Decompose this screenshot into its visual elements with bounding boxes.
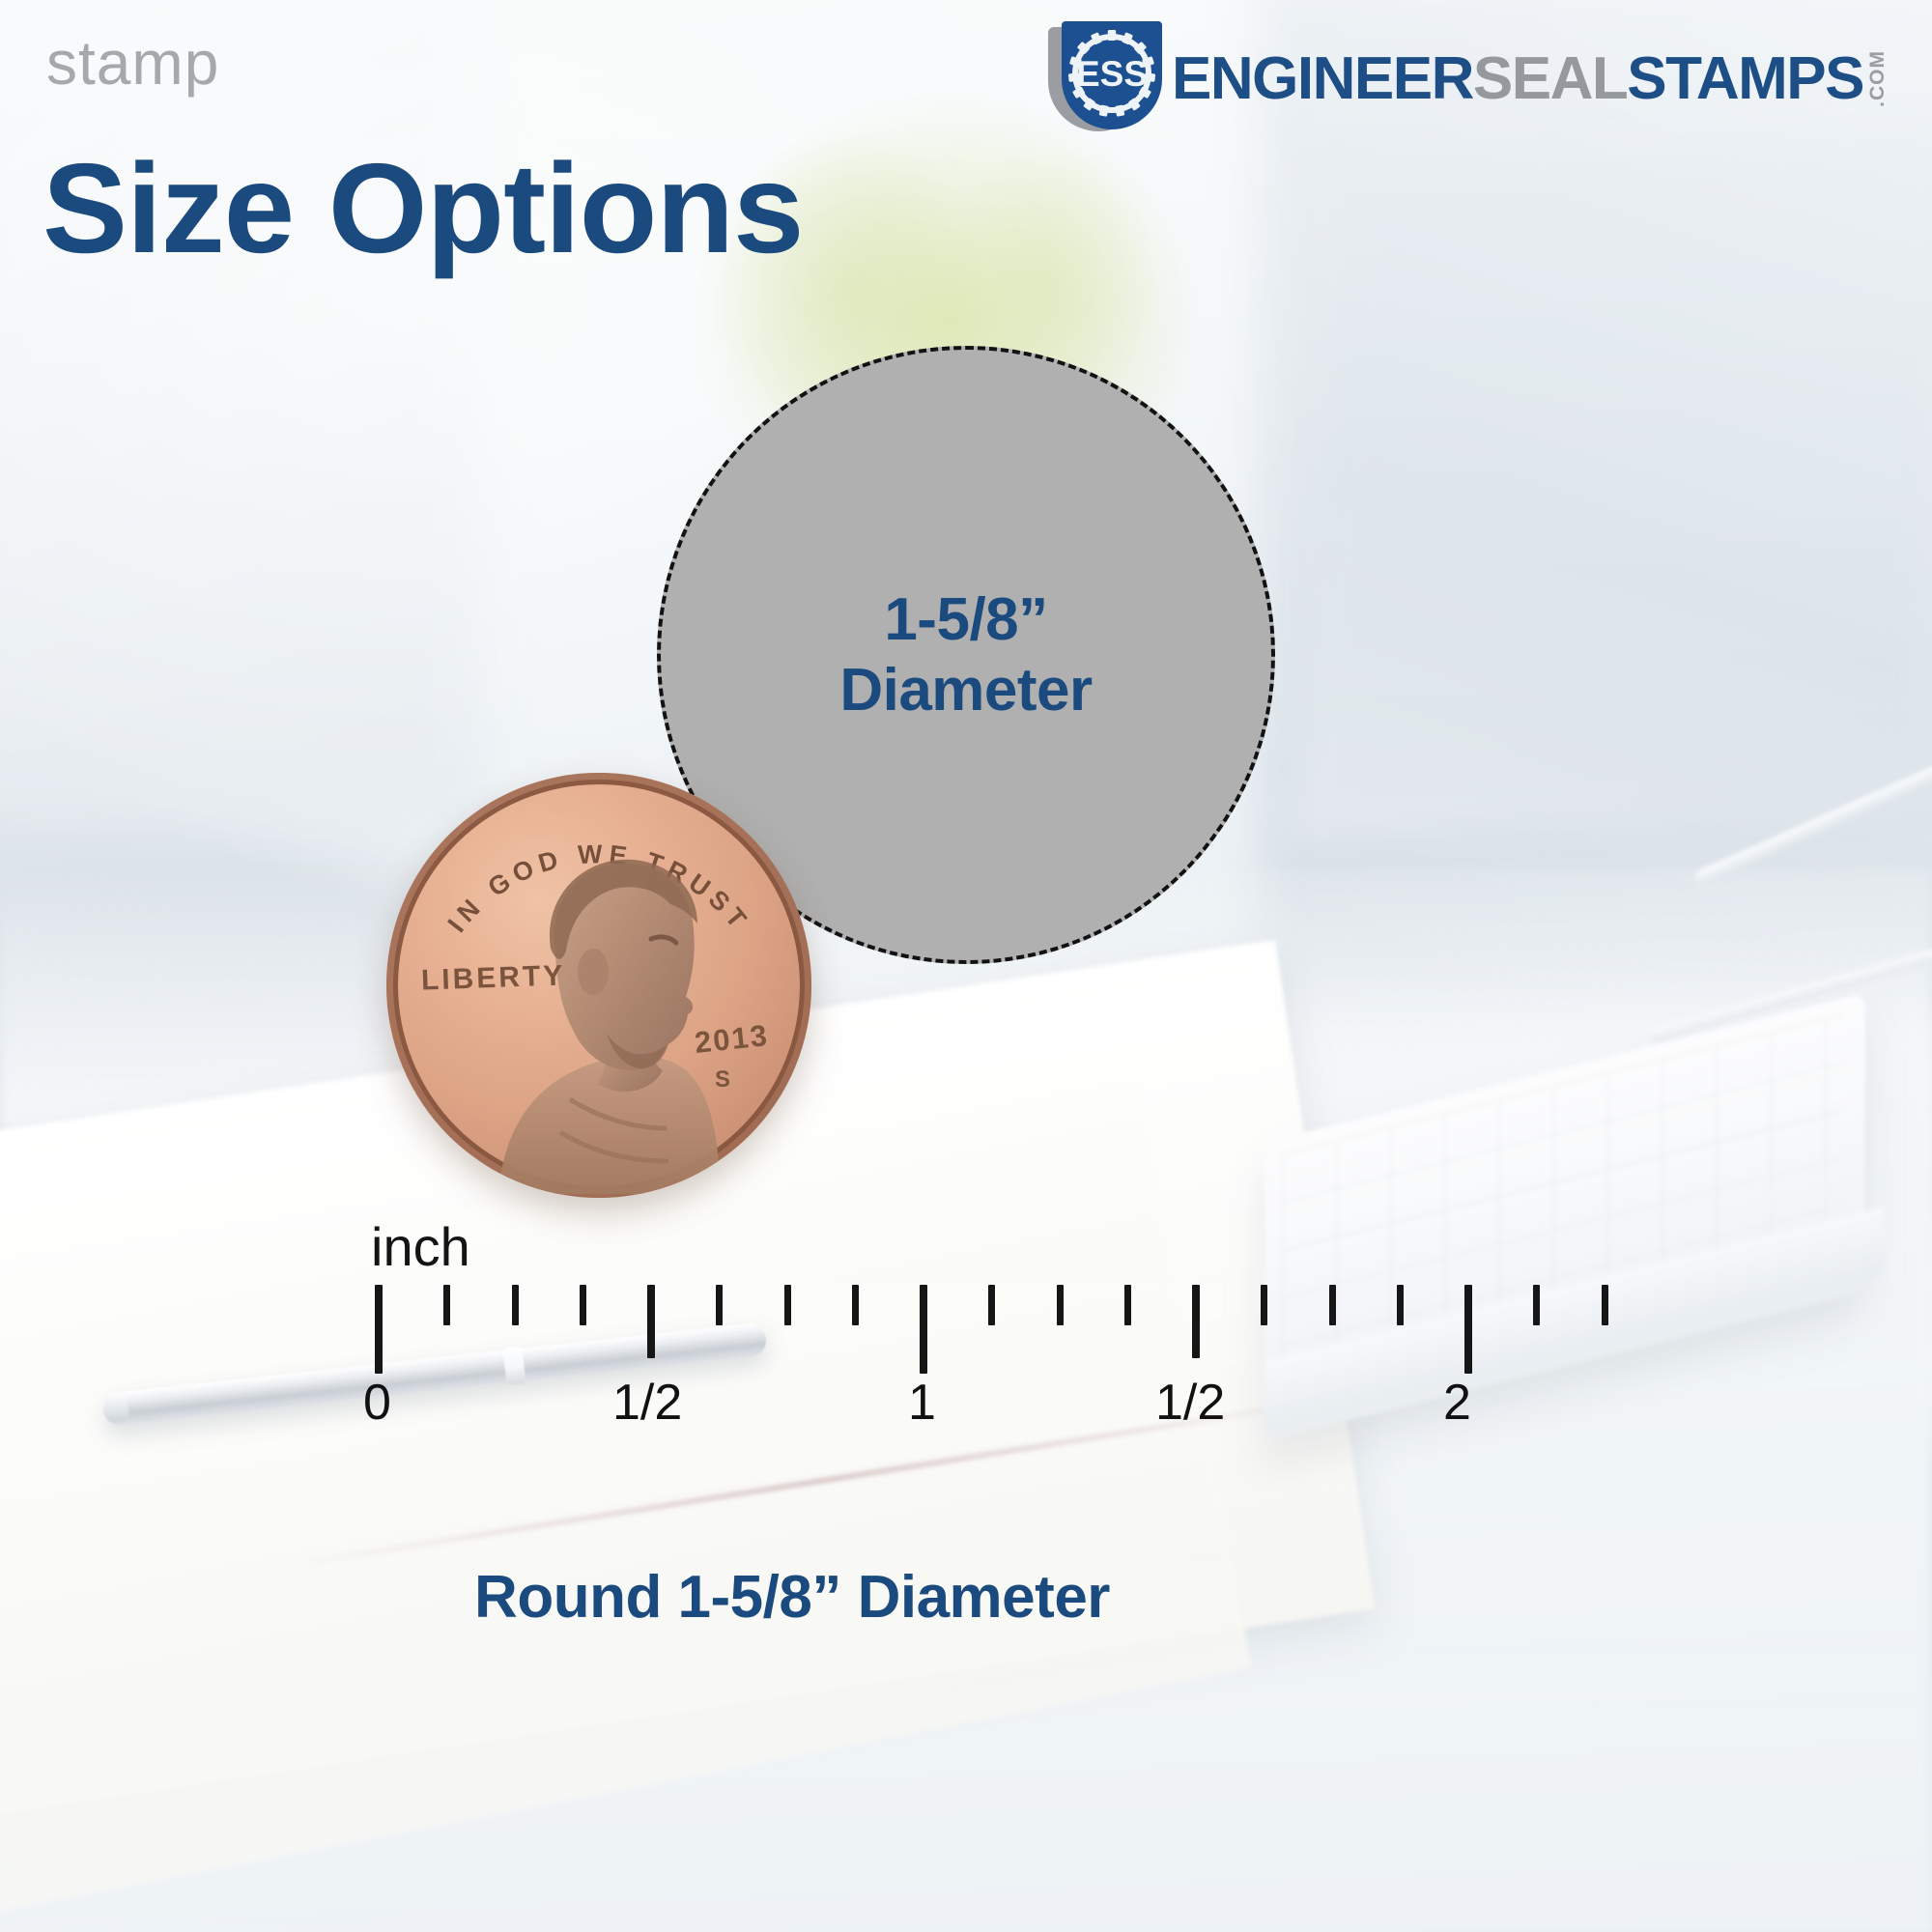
logo-mark-text: ESS (1076, 54, 1148, 94)
coin-liberty-text: LIBERTY (420, 959, 565, 997)
brand-word-stamp: stamp (46, 27, 219, 99)
photo-brightness-wash (0, 0, 1932, 1932)
coin-mint-mark: S (715, 1066, 730, 1094)
size-options-graphic: stamp Size Options (0, 0, 1932, 1932)
logo-word-stamps: STAMPS (1627, 49, 1863, 109)
logo-word-dotcom: .COM (1867, 50, 1888, 107)
logo-wordmark: ENGINEERSEALSTAMPS.COM (1172, 49, 1888, 109)
penny-coin: IN GOD WE TRUST (386, 773, 811, 1198)
size-circle-line1: 1-5/8” (839, 584, 1092, 655)
page-title: Size Options (43, 145, 803, 272)
logo-word-engineer: ENGINEER (1172, 49, 1473, 109)
logo-word-seal: SEAL (1473, 49, 1627, 109)
bottom-caption: Round 1-5/8” Diameter (0, 1563, 1584, 1632)
company-logo[interactable]: ESS ENGINEERSEALSTAMPS.COM (1048, 21, 1888, 137)
stylus-band (503, 1347, 526, 1385)
size-circle-line2: Diameter (839, 655, 1092, 725)
lincoln-bust-relief (462, 827, 752, 1194)
size-circle-label: 1-5/8” Diameter (839, 584, 1092, 725)
ess-shield-icon: ESS (1048, 21, 1162, 137)
